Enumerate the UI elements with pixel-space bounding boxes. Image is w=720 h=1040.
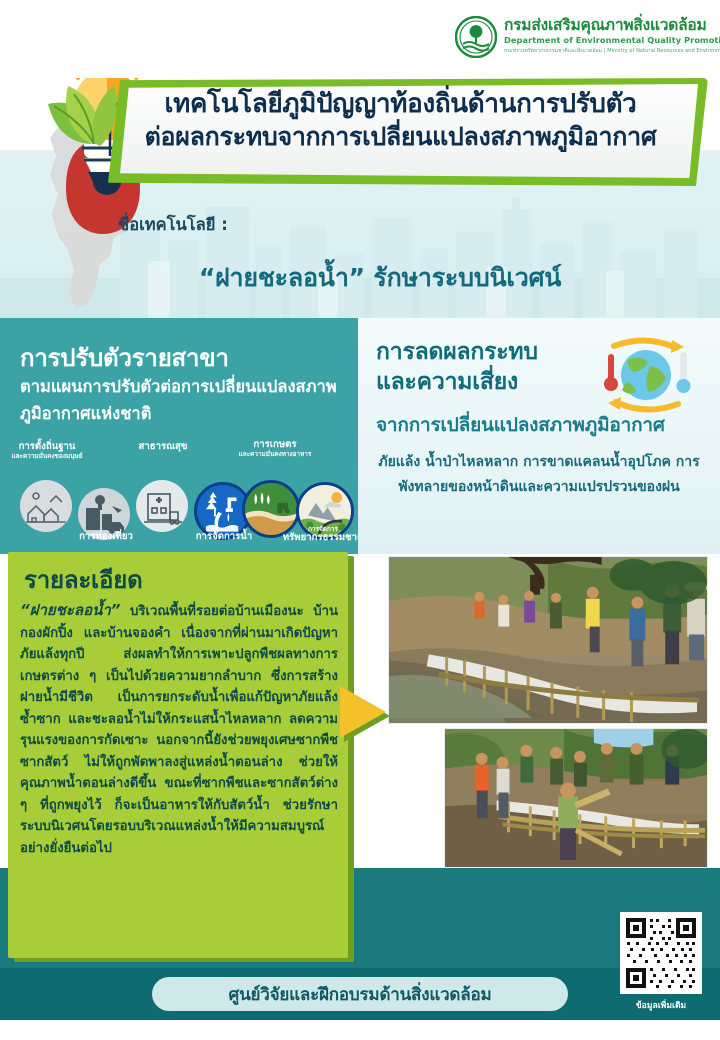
settlement-houses-icon bbox=[20, 480, 72, 532]
mitigation-heading-line1: การลดผลกระทบ bbox=[376, 338, 538, 368]
detail-lead: “ฝายชะลอน้ำ” bbox=[20, 601, 120, 619]
qr-code[interactable] bbox=[620, 912, 702, 994]
technology-name-label: ชื่อเทคโนโลยี : bbox=[118, 212, 228, 238]
sector-caption-3: การจัดการน้ำ bbox=[184, 532, 264, 543]
detail-body: “ฝายชะลอน้ำ” บริเวณพื้นที่รอยต่อบ้านเมือ… bbox=[20, 598, 338, 859]
header-bar: กรมส่งเสริมคุณภาพสิ่งแวดล้อม Department … bbox=[0, 0, 720, 78]
detail-text: บริเวณพื้นที่รอยต่อบ้านเมืองนะ บ้านกองผั… bbox=[20, 604, 338, 856]
mitigation-risk-panel: การลดผลกระทบ และความเสี่ยง จากการเปลี่ยน… bbox=[358, 318, 720, 554]
technology-name-value: “ฝายชะลอน้ำ” รักษาระบบนิเวศน์ bbox=[110, 258, 650, 298]
title-ribbon: เทคโนโลยีภูมิปัญญาท้องถิ่นด้านการปรับตัว… bbox=[108, 78, 708, 186]
footer-org-pill[interactable]: ศูนย์วิจัยและฝึกอบรมด้านสิ่งแวดล้อม bbox=[152, 977, 568, 1011]
org-name-en: Department of Environmental Quality Prom… bbox=[504, 35, 720, 45]
sector-caption-4: การเกษตร และความมั่นคงทางอาหาร bbox=[232, 440, 318, 458]
sector-caption-2: สาธารณสุข bbox=[122, 442, 204, 453]
photo-villagers-building-check-dam bbox=[388, 556, 708, 724]
qr-caption: ข้อมูลเพิ่มเติม bbox=[620, 998, 702, 1012]
footer-org-label: ศูนย์วิจัยและฝึกอบรมด้านสิ่งแวดล้อม bbox=[229, 981, 492, 1008]
poster-root: เทคโนโลยีภูมิปัญญาท้องถิ่นด้านการปรับตัว… bbox=[0, 0, 720, 1040]
public-health-hospital-icon bbox=[136, 480, 188, 532]
sector-icon-row: การตั้งถิ่นฐาน และความมั่นคงของมนุษย์ กา… bbox=[6, 446, 358, 552]
title-line-2: ต่อผลกระทบจากการเปลี่ยนแปลงสภาพภูมิอากาศ bbox=[128, 121, 673, 153]
sector-caption-1: การท่องเที่ยว bbox=[64, 532, 148, 543]
deqp-logo: กรมส่งเสริมคุณภาพสิ่งแวดล้อม Department … bbox=[455, 16, 720, 58]
page-title: เทคโนโลยีภูมิปัญญาท้องถิ่นด้านการปรับตัว… bbox=[128, 88, 673, 153]
org-name-th: กรมส่งเสริมคุณภาพสิ่งแวดล้อม bbox=[504, 17, 720, 33]
mitigation-heading: การลดผลกระทบ และความเสี่ยง bbox=[376, 338, 538, 398]
climate-risks-text: ภัยแล้ง น้ำป่าไหลหลาก การขาดแคลนน้ำอุปโภ… bbox=[374, 450, 704, 500]
panels-section: การปรับตัวรายสาขา ตามแผนการปรับตัวต่อการ… bbox=[0, 318, 720, 554]
adaptation-heading: การปรับตัวรายสาขา bbox=[20, 338, 229, 377]
detail-box: รายละเอียด “ฝายชะลอน้ำ” บริเวณพื้นที่รอย… bbox=[8, 552, 348, 958]
title-line-1: เทคโนโลยีภูมิปัญญาท้องถิ่นด้านการปรับตัว bbox=[128, 88, 673, 121]
deqp-tree-water-logo-icon bbox=[455, 16, 497, 58]
ministry-name: กระทรวงทรัพยากรธรรมชาติและสิ่งแวดล้อม | … bbox=[504, 47, 720, 55]
adaptation-sectors-panel: การปรับตัวรายสาขา ตามแผนการปรับตัวต่อการ… bbox=[0, 318, 358, 554]
globe-thermometer-climate-icon bbox=[586, 334, 706, 416]
sector-caption-5: การจัดการ ทรัพยากรธรรมชาติ bbox=[282, 526, 364, 544]
adaptation-subheading: ตามแผนการปรับตัวต่อการเปลี่ยนแปลงสภาพภูม… bbox=[20, 374, 350, 427]
sector-caption-0: การตั้งถิ่นฐาน และความมั่นคงของมนุษย์ bbox=[6, 442, 88, 460]
photo-soldiers-villagers-bamboo-dam bbox=[444, 728, 708, 868]
bottom-white-strip bbox=[0, 1020, 720, 1040]
detail-heading: รายละเอียด bbox=[24, 560, 143, 599]
play-triangle-arrow-icon bbox=[336, 676, 398, 750]
mitigation-heading-line2: และความเสี่ยง bbox=[376, 368, 538, 398]
